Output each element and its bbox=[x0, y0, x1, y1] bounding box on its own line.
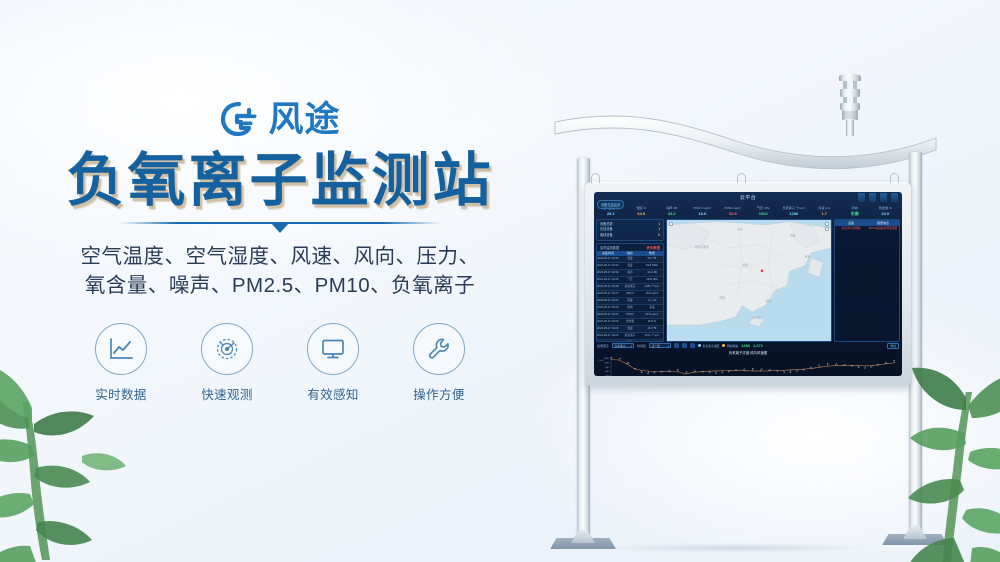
realtime-data-table[interactable]: 实时监测数据 更多数据 采集时间指标数值 2023-05-17 10:32:00… bbox=[596, 243, 664, 342]
subtitle-line-2: 氧含量、噪声、PM2.5、PM10、负氧离子 bbox=[0, 271, 560, 300]
feature-label: 操作方便 bbox=[405, 384, 473, 403]
legend-item-1: 负氧离子浓度 bbox=[698, 344, 719, 348]
plant-decoration-left bbox=[0, 350, 172, 562]
alarm-table[interactable]: 设备报警信息 负氧离子监测站PM10浓度超过预警阈值 bbox=[834, 219, 900, 342]
kpi-value: 64.8 bbox=[627, 211, 657, 217]
header-icon-group bbox=[858, 193, 898, 202]
table-cell: 2023-05-17 10:31:00 bbox=[597, 263, 619, 269]
svg-text:320: 320 bbox=[605, 375, 609, 376]
table-row[interactable]: 2023-05-17 10:29:00气压1002 hPa bbox=[597, 277, 663, 284]
mounting-hooks bbox=[585, 173, 911, 183]
device-stats: 设备总数1在线设备1离线设备0 bbox=[596, 219, 664, 241]
table-cell: 2023-05-17 10:22:00 bbox=[597, 326, 619, 332]
dashboard-title: 云平台 bbox=[740, 194, 756, 201]
table-cell: 2023-05-17 10:20:00 bbox=[597, 340, 619, 341]
table-cell: 温度 bbox=[619, 326, 641, 332]
stat-row: 离线设备0 bbox=[600, 233, 660, 238]
table-cell: 负氧离子 bbox=[619, 284, 641, 290]
table-cell: 气压 bbox=[619, 277, 641, 283]
table-row[interactable]: 2023-05-17 10:23:00氧含量20.9 % bbox=[597, 319, 663, 326]
svg-text:中国: 中国 bbox=[742, 263, 748, 267]
table-cell: 2023-05-17 10:24:00 bbox=[597, 312, 619, 318]
table-cell: 64.8 %RH bbox=[641, 263, 663, 269]
alarm-cell: 负氧离子监测站 bbox=[835, 226, 867, 232]
refresh-button[interactable] bbox=[690, 343, 695, 348]
table-row[interactable]: 2023-05-17 10:31:00湿度64.8 %RH bbox=[597, 263, 663, 270]
kpi-value: 32.5 bbox=[718, 211, 748, 217]
svg-text:印度: 印度 bbox=[719, 295, 725, 299]
table-cell: 温度 bbox=[619, 256, 641, 262]
table-cell: 湿度 bbox=[619, 263, 641, 269]
table-cell: 氧含量 bbox=[619, 319, 641, 325]
table-cell: 1271 个/cm³ bbox=[641, 333, 663, 339]
kpi-card: 风速 m/s1.7 bbox=[810, 206, 840, 217]
table-row[interactable]: 2023-05-17 10:28:00负氧离子1286 个/cm³ bbox=[597, 284, 663, 291]
period-select-label: 时间段 bbox=[637, 344, 646, 348]
kpi-card: 风向东南 bbox=[840, 206, 870, 217]
table-row[interactable]: 2023-05-17 10:20:00湿度65.0 %RH bbox=[597, 340, 663, 341]
table-row[interactable]: 2023-05-17 10:25:00风向东南 bbox=[597, 305, 663, 312]
poster-stage: 风途 负氧离子监测站 空气温度、空气湿度、风速、风向、压力、 氧含量、噪声、PM… bbox=[0, 0, 1000, 562]
svg-text:日本: 日本 bbox=[805, 254, 811, 258]
status-badge: 设备在线监测 bbox=[597, 200, 624, 209]
factor-select-label: 监测因子 bbox=[597, 344, 609, 348]
menu-icon[interactable] bbox=[858, 193, 865, 202]
feature-item-easy-operation: 操作方便 bbox=[405, 323, 473, 403]
feature-item-effective-sensing: 有效感知 bbox=[299, 323, 367, 403]
svg-text:960: 960 bbox=[605, 366, 609, 368]
period-select[interactable]: 近一天 bbox=[649, 343, 671, 348]
table-cell: 噪声 bbox=[619, 270, 641, 276]
legend-label: 负氧离子浓度 bbox=[703, 344, 720, 348]
monitor-icon bbox=[307, 323, 359, 375]
kpi-card: 湿度 %64.8 bbox=[627, 206, 657, 217]
wrench-icon bbox=[413, 323, 465, 375]
table-row[interactable]: 2023-05-17 10:32:00温度26.1 ℃ bbox=[597, 256, 663, 263]
table-cell: 26.0 ℃ bbox=[641, 326, 663, 332]
page-title: 负氧离子监测站 bbox=[0, 151, 560, 211]
kpi-value: 26.1 bbox=[596, 211, 626, 217]
table-cell: 2023-05-17 10:25:00 bbox=[597, 305, 619, 311]
table-cell: 湿度 bbox=[619, 340, 641, 341]
table-cell: 负氧离子 bbox=[619, 333, 641, 339]
table-cell: 26.1 ℃ bbox=[641, 256, 663, 262]
table-cell: 2023-05-17 10:26:00 bbox=[597, 298, 619, 304]
table-row[interactable]: 2023-05-17 10:30:00噪声43.2 dB bbox=[597, 270, 663, 277]
kpi-value: 1286 bbox=[779, 211, 809, 217]
hook bbox=[737, 173, 746, 183]
table-row[interactable]: 2023-05-17 10:21:00负氧离子1271 个/cm³ bbox=[597, 333, 663, 340]
table-row[interactable]: 2023-05-17 10:24:00PM1032.5 ug/m³ bbox=[597, 312, 663, 319]
table-cell: 2023-05-17 10:32:00 bbox=[597, 256, 619, 262]
kpi-value: 18.0 bbox=[688, 211, 718, 217]
table-body: 2023-05-17 10:32:00温度26.1 ℃2023-05-17 10… bbox=[597, 256, 663, 341]
svg-text:1280: 1280 bbox=[604, 362, 610, 364]
svg-text:南海: 南海 bbox=[765, 299, 771, 303]
hook bbox=[890, 173, 899, 183]
table-cell: 20.9 % bbox=[641, 319, 663, 325]
table-cell: 2023-05-17 10:21:00 bbox=[597, 333, 619, 339]
kpi-card: PM2.5 ug/m³18.0 bbox=[688, 206, 718, 217]
dashboard-header: 设备在线监测 云平台 bbox=[594, 192, 902, 206]
table-cell: 风向 bbox=[619, 305, 641, 311]
table-cell: 18.0 ug/m³ bbox=[641, 291, 663, 297]
table-cell: 1.7 m/s bbox=[641, 298, 663, 304]
kpi-label: 负氧离子 个/cm³ bbox=[779, 206, 809, 211]
kpi-card: 噪声 dB43.2 bbox=[657, 206, 687, 217]
stat-label: 离线设备 bbox=[600, 233, 613, 238]
table-cell: 风速 bbox=[619, 298, 641, 304]
china-map[interactable]: 蒙古朝鲜 中国哈萨克斯坦 南海日本 印度菲律宾 bbox=[666, 219, 832, 342]
title-divider bbox=[119, 218, 441, 234]
map-zoom-out-button[interactable] bbox=[825, 227, 829, 231]
left-column: 设备总数1在线设备1离线设备0 实时监测数据 更多数据 采集时间指标数值 202… bbox=[596, 219, 664, 342]
kpi-value: 东南 bbox=[840, 211, 870, 217]
fengtu-g-logo-icon bbox=[219, 100, 259, 138]
wave-canopy bbox=[553, 112, 938, 174]
query-button[interactable] bbox=[674, 343, 679, 348]
table-cell: 32.5 ug/m³ bbox=[641, 312, 663, 318]
reset-button[interactable] bbox=[682, 343, 687, 348]
map-layer-button[interactable] bbox=[669, 222, 673, 226]
table-cell: PM2.5 bbox=[619, 291, 641, 297]
table-cell: 2023-05-17 10:27:00 bbox=[597, 291, 619, 297]
svg-text:哈萨克斯坦: 哈萨克斯坦 bbox=[695, 245, 709, 249]
table-row[interactable]: 2023-05-17 10:27:00PM2.518.0 ug/m³ bbox=[597, 291, 663, 298]
feature-item-fast-observation: 快速观测 bbox=[193, 323, 261, 403]
factor-select[interactable]: 负氧离子 bbox=[612, 343, 634, 348]
alarm-column: 设备报警信息 负氧离子监测站PM10浓度超过预警阈值 bbox=[834, 219, 900, 342]
table-cell: 43.2 dB bbox=[641, 270, 663, 276]
feature-label: 有效感知 bbox=[299, 384, 367, 403]
table-cell: 1002 hPa bbox=[641, 277, 663, 283]
brand-logo: 风途 bbox=[0, 96, 560, 142]
kpi-value-1: 1286 bbox=[741, 343, 750, 348]
hook bbox=[591, 173, 600, 183]
alarm-cell: PM10浓度超过预警阈值 bbox=[867, 226, 899, 232]
kpi-value: 1.7 bbox=[810, 211, 840, 217]
user-icon[interactable] bbox=[891, 193, 898, 202]
map-column: 蒙古朝鲜 中国哈萨克斯坦 南海日本 印度菲律宾 bbox=[666, 219, 832, 342]
kpi-row: 空气温度 ℃26.1湿度 %64.8噪声 dB43.2PM2.5 ug/m³18… bbox=[594, 206, 902, 217]
svg-text:朝鲜: 朝鲜 bbox=[790, 233, 796, 237]
chart-icon[interactable] bbox=[869, 193, 876, 202]
table-cell: 2023-05-17 10:30:00 bbox=[597, 270, 619, 276]
map-zoom-in-button[interactable] bbox=[825, 222, 829, 226]
radar-sensor-icon bbox=[201, 323, 253, 375]
divider-triangle-icon bbox=[271, 223, 289, 233]
table-cell: 2023-05-17 10:29:00 bbox=[597, 277, 619, 283]
brand-logo-text: 风途 bbox=[268, 102, 340, 137]
hero-subtitle: 空气温度、空气湿度、风速、风向、压力、 氧含量、噪声、PM2.5、PM10、负氧… bbox=[0, 242, 560, 300]
table-row[interactable]: 2023-05-17 10:22:00温度26.0 ℃ bbox=[597, 326, 663, 333]
table-cell: 65.0 %RH bbox=[641, 340, 663, 341]
svg-text:1600: 1600 bbox=[604, 358, 610, 360]
svg-text:个/cm³: 个/cm³ bbox=[598, 359, 604, 362]
table-cell: 1286 个/cm³ bbox=[641, 284, 663, 290]
kpi-value-2: 1,271 bbox=[753, 343, 763, 348]
dashboard-body: 设备总数1在线设备1离线设备0 实时监测数据 更多数据 采集时间指标数值 202… bbox=[594, 217, 902, 342]
alarm-row[interactable]: 负氧离子监测站PM10浓度超过预警阈值 bbox=[835, 226, 899, 232]
plant-decoration-right bbox=[854, 342, 1000, 562]
table-caption-text: 实时监测数据 bbox=[600, 245, 619, 250]
svg-text:640: 640 bbox=[605, 371, 609, 373]
feature-label: 快速观测 bbox=[193, 384, 261, 403]
table-cell: PM10 bbox=[619, 312, 641, 318]
table-cell: 东南 bbox=[641, 305, 663, 311]
table-more-link[interactable]: 更多数据 bbox=[646, 245, 660, 250]
kpi-card: 氧含量 %20.9 bbox=[871, 206, 901, 217]
table-caption: 实时监测数据 更多数据 bbox=[597, 244, 663, 251]
alarm-table-body: 负氧离子监测站PM10浓度超过预警阈值 bbox=[835, 226, 899, 232]
legend-item-2: 风向风速 bbox=[722, 344, 738, 348]
table-cell: 2023-05-17 10:23:00 bbox=[597, 319, 619, 325]
kpi-card: 气压 hPa1002 bbox=[749, 206, 779, 217]
table-cell: 2023-05-17 10:28:00 bbox=[597, 284, 619, 290]
legend-label: 风向风速 bbox=[727, 344, 738, 348]
kpi-card: 负氧离子 个/cm³1286 bbox=[779, 206, 809, 217]
kpi-value: 20.9 bbox=[871, 211, 901, 217]
kpi-card: PM10 ug/m³32.5 bbox=[718, 206, 748, 217]
settings-icon[interactable] bbox=[880, 193, 887, 202]
base-plate-left bbox=[550, 532, 616, 549]
subtitle-line-1: 空气温度、空气湿度、风速、风向、压力、 bbox=[0, 242, 560, 271]
stat-value: 0 bbox=[658, 233, 660, 238]
kpi-value: 43.2 bbox=[657, 211, 687, 217]
table-row[interactable]: 2023-05-17 10:26:00风速1.7 m/s bbox=[597, 298, 663, 305]
svg-text:蒙古: 蒙古 bbox=[738, 226, 744, 230]
kpi-value: 1002 bbox=[749, 211, 779, 217]
svg-text:菲律宾: 菲律宾 bbox=[752, 315, 761, 319]
